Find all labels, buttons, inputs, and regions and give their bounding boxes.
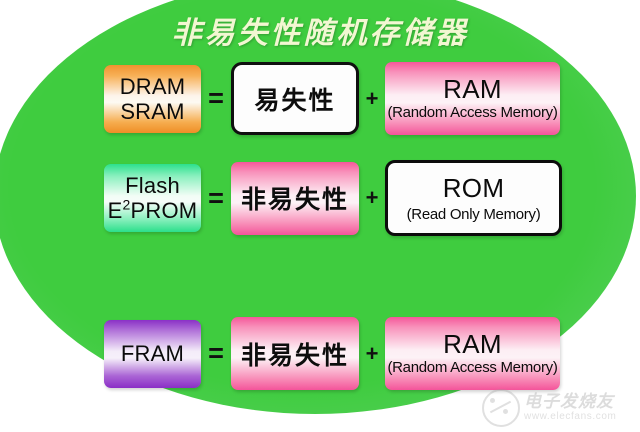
equals-sign: = — [201, 85, 231, 112]
plus-sign: + — [359, 88, 385, 110]
equals-sign: = — [201, 340, 231, 367]
watermark-url: www.elecfans.com — [524, 412, 616, 423]
category-label-line1: Flash — [125, 173, 180, 198]
equation-row-dram-sram: DRAM SRAM = 易失性 + RAM (Random Access Mem… — [104, 62, 560, 135]
category-label-line1: FRAM — [121, 341, 184, 366]
result-box-ram: RAM (Random Access Memory) — [385, 62, 560, 135]
equation-row-fram: FRAM = 非易失性 + RAM (Random Access Memory) — [104, 317, 560, 390]
volatility-box-volatile: 易失性 — [231, 62, 359, 135]
category-label-line2-post: PROM — [131, 198, 198, 223]
equals-sign: = — [201, 185, 231, 212]
diagram-canvas: 非易失性随机存储器 DRAM SRAM = 易失性 + RAM (Random … — [0, 0, 640, 432]
result-subtitle: (Random Access Memory) — [387, 360, 557, 376]
result-subtitle: (Read Only Memory) — [407, 206, 541, 223]
plus-sign: + — [359, 187, 385, 209]
equation-row-flash-eeprom: Flash E2PROM = 非易失性 + ROM (Read Only Mem… — [104, 160, 562, 236]
result-title: RAM — [443, 76, 502, 103]
category-box-fram: FRAM — [104, 320, 201, 388]
volatility-label: 非易失性 — [241, 180, 349, 216]
result-subtitle: (Random Access Memory) — [387, 105, 557, 121]
result-box-ram: RAM (Random Access Memory) — [385, 317, 560, 390]
category-label-line2-pre: E — [108, 198, 123, 223]
category-label-line2: SRAM — [120, 99, 184, 124]
watermark-brand: 电子发烧友 — [524, 394, 616, 412]
elecfans-logo-icon — [482, 389, 520, 427]
volatility-label: 非易失性 — [241, 336, 349, 372]
result-title: RAM — [443, 331, 502, 358]
category-box-dram-sram: DRAM SRAM — [104, 65, 201, 133]
diagram-title: 非易失性随机存储器 — [0, 8, 640, 52]
category-label-line2: E2PROM — [108, 198, 198, 223]
category-label-line1: DRAM — [120, 74, 186, 99]
result-title: ROM — [443, 173, 505, 204]
volatility-box-nonvolatile: 非易失性 — [231, 162, 359, 235]
watermark-text: 电子发烧友 www.elecfans.com — [524, 394, 616, 422]
volatility-label: 易失性 — [254, 81, 335, 117]
watermark: 电子发烧友 www.elecfans.com — [482, 388, 634, 428]
plus-sign: + — [359, 343, 385, 365]
result-box-rom: ROM (Read Only Memory) — [385, 160, 562, 236]
category-label-line2-superscript: 2 — [123, 197, 131, 213]
category-box-flash-eeprom: Flash E2PROM — [104, 164, 201, 232]
volatility-box-nonvolatile: 非易失性 — [231, 317, 359, 390]
